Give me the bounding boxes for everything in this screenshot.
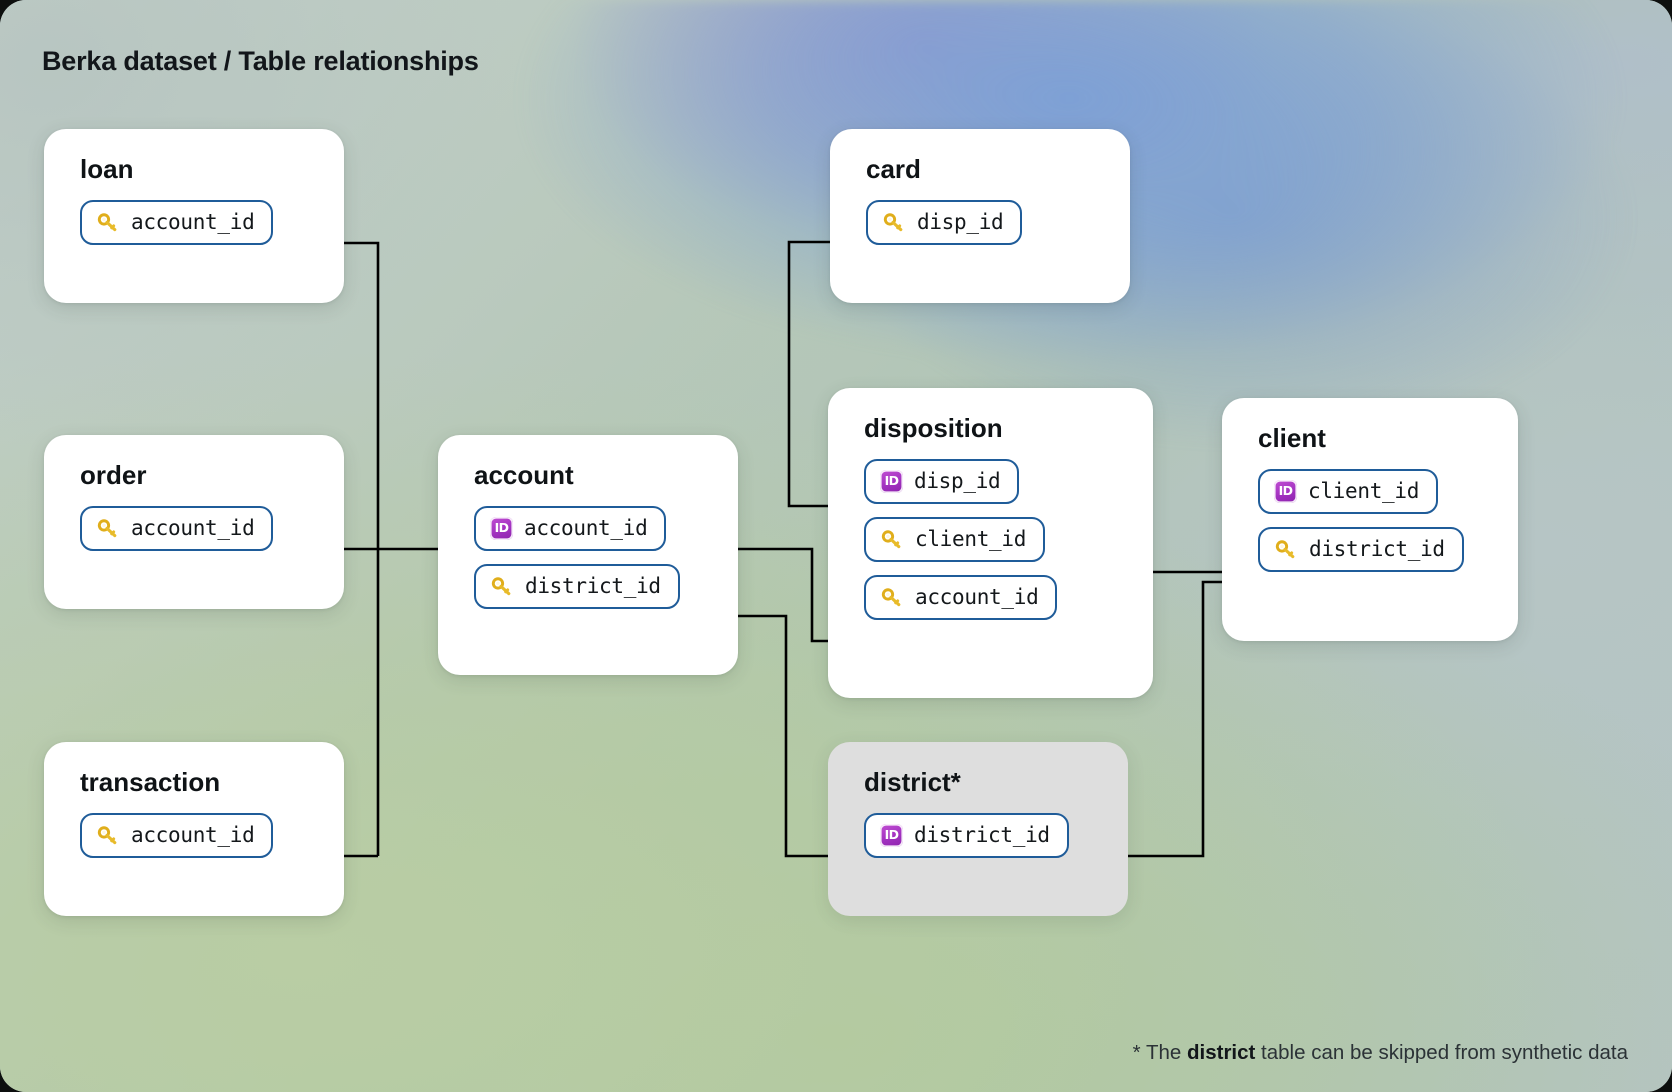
key-icon xyxy=(96,824,120,846)
field-name: account_id xyxy=(524,516,647,540)
key-icon xyxy=(490,575,514,597)
table-name: client xyxy=(1258,424,1492,453)
key-icon xyxy=(1274,538,1298,560)
key-icon xyxy=(880,586,904,608)
field-district-district-id[interactable]: ID district_id xyxy=(864,813,1069,858)
id-icon: ID xyxy=(490,517,513,540)
table-card-client[interactable]: client ID client_id district_id xyxy=(1222,398,1518,641)
table-card-card[interactable]: card disp_id xyxy=(830,129,1130,303)
id-icon: ID xyxy=(1274,480,1297,503)
field-list: ID client_id district_id xyxy=(1258,469,1492,572)
field-disposition-client-id[interactable]: client_id xyxy=(864,517,1045,562)
table-name: order xyxy=(80,461,318,490)
field-list: ID district_id xyxy=(864,813,1102,858)
table-name: account xyxy=(474,461,712,490)
table-name: card xyxy=(866,155,1104,184)
field-list: ID account_id district_id xyxy=(474,506,712,609)
field-account-district-id[interactable]: district_id xyxy=(474,564,680,609)
field-list: account_id xyxy=(80,506,318,551)
key-icon xyxy=(96,211,120,233)
table-card-disposition[interactable]: disposition ID disp_id client_id xyxy=(828,388,1153,698)
table-card-transaction[interactable]: transaction account_id xyxy=(44,742,344,916)
footnote-prefix: * The xyxy=(1133,1041,1187,1064)
field-name: account_id xyxy=(915,585,1038,609)
field-name: client_id xyxy=(915,527,1026,551)
id-icon: ID xyxy=(880,824,903,847)
field-name: district_id xyxy=(1309,537,1445,561)
field-client-client-id[interactable]: ID client_id xyxy=(1258,469,1438,514)
key-icon xyxy=(880,528,904,550)
id-icon: ID xyxy=(880,470,903,493)
field-name: district_id xyxy=(914,823,1050,847)
diagram-canvas: Berka dataset / Table relationships xyxy=(0,0,1672,1092)
key-icon xyxy=(96,517,120,539)
table-card-loan[interactable]: loan account_id xyxy=(44,129,344,303)
footnote: * The district table can be skipped from… xyxy=(1133,1041,1628,1065)
table-card-order[interactable]: order account_id xyxy=(44,435,344,609)
table-name: district* xyxy=(864,768,1102,797)
table-name: loan xyxy=(80,155,318,184)
page-title: Berka dataset / Table relationships xyxy=(42,46,479,77)
footnote-bold-term: district xyxy=(1187,1041,1255,1064)
field-disposition-disp-id[interactable]: ID disp_id xyxy=(864,459,1019,504)
field-loan-account-id[interactable]: account_id xyxy=(80,200,273,245)
field-name: disp_id xyxy=(917,210,1003,234)
table-name: transaction xyxy=(80,768,318,797)
field-name: account_id xyxy=(131,823,254,847)
field-disposition-account-id[interactable]: account_id xyxy=(864,575,1057,620)
field-account-account-id[interactable]: ID account_id xyxy=(474,506,666,551)
table-card-district[interactable]: district* ID district_id xyxy=(828,742,1128,916)
field-name: account_id xyxy=(131,516,254,540)
table-name: disposition xyxy=(864,414,1127,443)
key-icon xyxy=(882,211,906,233)
table-card-account[interactable]: account ID account_id district_id xyxy=(438,435,738,675)
field-list: account_id xyxy=(80,200,318,245)
field-card-disp-id[interactable]: disp_id xyxy=(866,200,1022,245)
field-order-account-id[interactable]: account_id xyxy=(80,506,273,551)
field-name: disp_id xyxy=(914,469,1000,493)
field-name: district_id xyxy=(525,574,661,598)
field-name: account_id xyxy=(131,210,254,234)
field-client-district-id[interactable]: district_id xyxy=(1258,527,1464,572)
field-name: client_id xyxy=(1308,479,1419,503)
field-list: account_id xyxy=(80,813,318,858)
field-list: ID disp_id client_id xyxy=(864,459,1127,620)
footnote-suffix: table can be skipped from synthetic data xyxy=(1255,1041,1628,1064)
field-list: disp_id xyxy=(866,200,1104,245)
field-transaction-account-id[interactable]: account_id xyxy=(80,813,273,858)
